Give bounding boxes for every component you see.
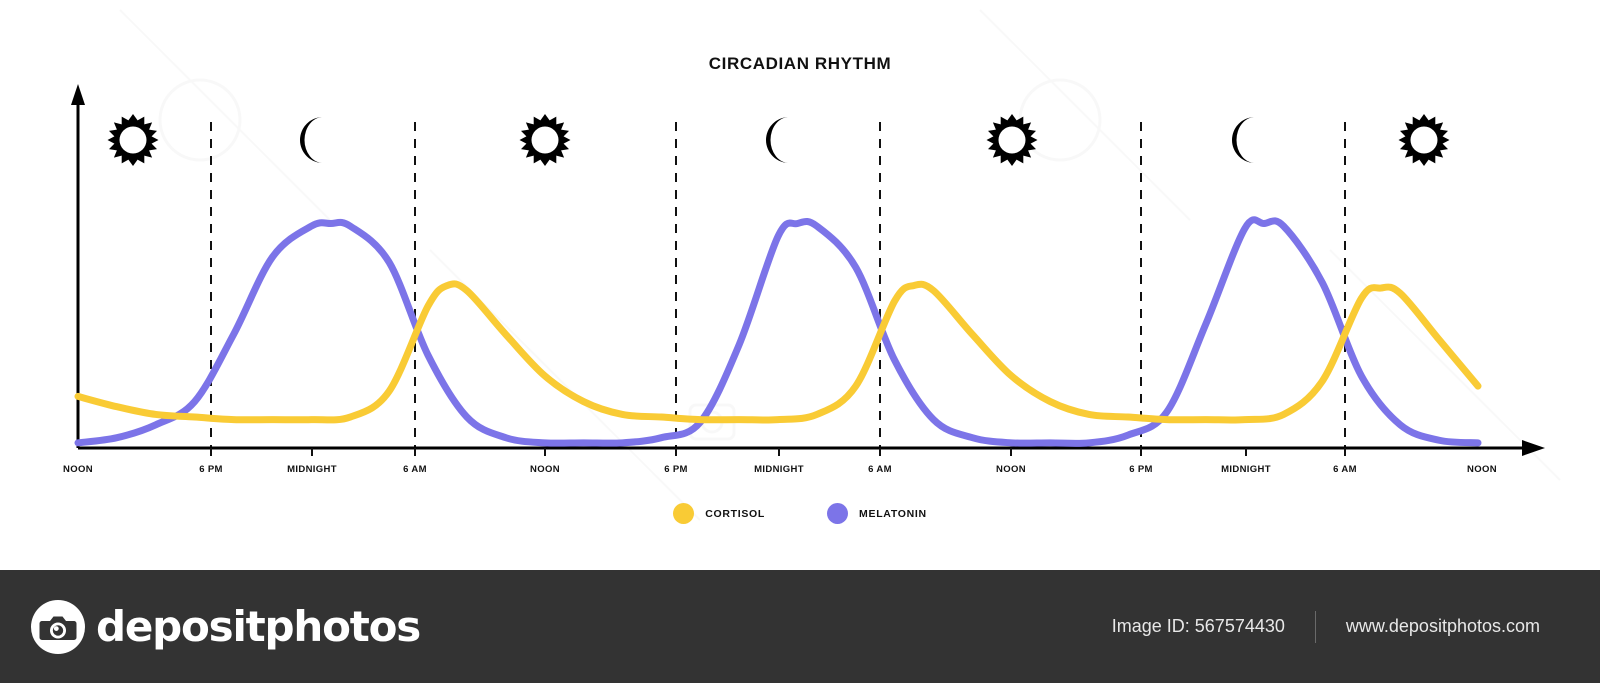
x-tick-label: 6 PM — [664, 464, 688, 475]
x-tick-label: NOON — [530, 464, 560, 475]
x-tick-label: MIDNIGHT — [287, 464, 337, 475]
x-tick-label: NOON — [63, 464, 93, 475]
melatonin-curve — [78, 220, 1478, 444]
brand-wordmark: depositphotos — [96, 602, 420, 651]
moon-icon — [1232, 117, 1255, 163]
moon-icon — [300, 117, 323, 163]
legend-label-melatonin: MELATONIN — [859, 508, 927, 520]
daynight-icon-row — [108, 114, 1450, 166]
x-axis — [78, 440, 1545, 456]
x-tick-label: NOON — [996, 464, 1026, 475]
moon-icon — [766, 117, 789, 163]
depositphotos-logo: depositphotos — [30, 599, 420, 655]
x-tick-label: 6 AM — [403, 464, 427, 475]
x-tick-label: 6 AM — [868, 464, 892, 475]
legend-swatch-melatonin — [827, 503, 848, 524]
x-tick-label: MIDNIGHT — [1221, 464, 1271, 475]
sun-icon — [520, 114, 571, 166]
website-link[interactable]: www.depositphotos.com — [1316, 616, 1570, 637]
x-tick-label: 6 PM — [1129, 464, 1153, 475]
chart-plot-area — [0, 0, 1600, 570]
legend-swatch-cortisol — [673, 503, 694, 524]
depositphotos-footer-bar: depositphotos Image ID: 567574430 www.de… — [0, 570, 1600, 683]
circadian-rhythm-chart: CIRCADIAN RHYTHM — [0, 0, 1600, 570]
legend-item-cortisol[interactable]: CORTISOL — [673, 503, 765, 524]
x-tick-label: NOON — [1467, 464, 1497, 475]
sun-icon — [108, 114, 159, 166]
x-tick-label: 6 AM — [1333, 464, 1357, 475]
camera-icon — [30, 599, 86, 655]
legend-item-melatonin[interactable]: MELATONIN — [827, 503, 927, 524]
x-tick-label: 6 PM — [199, 464, 223, 475]
chart-legend: CORTISOL MELATONIN — [0, 503, 1600, 524]
sun-icon — [1399, 114, 1450, 166]
legend-label-cortisol: CORTISOL — [705, 508, 765, 520]
screenshot-root: CIRCADIAN RHYTHM — [0, 0, 1600, 683]
footer-meta: Image ID: 567574430 www.depositphotos.co… — [1082, 611, 1570, 643]
x-tick-label: MIDNIGHT — [754, 464, 804, 475]
image-id-text: Image ID: 567574430 — [1082, 616, 1315, 637]
cortisol-curve — [78, 284, 1478, 420]
sun-icon — [987, 114, 1038, 166]
